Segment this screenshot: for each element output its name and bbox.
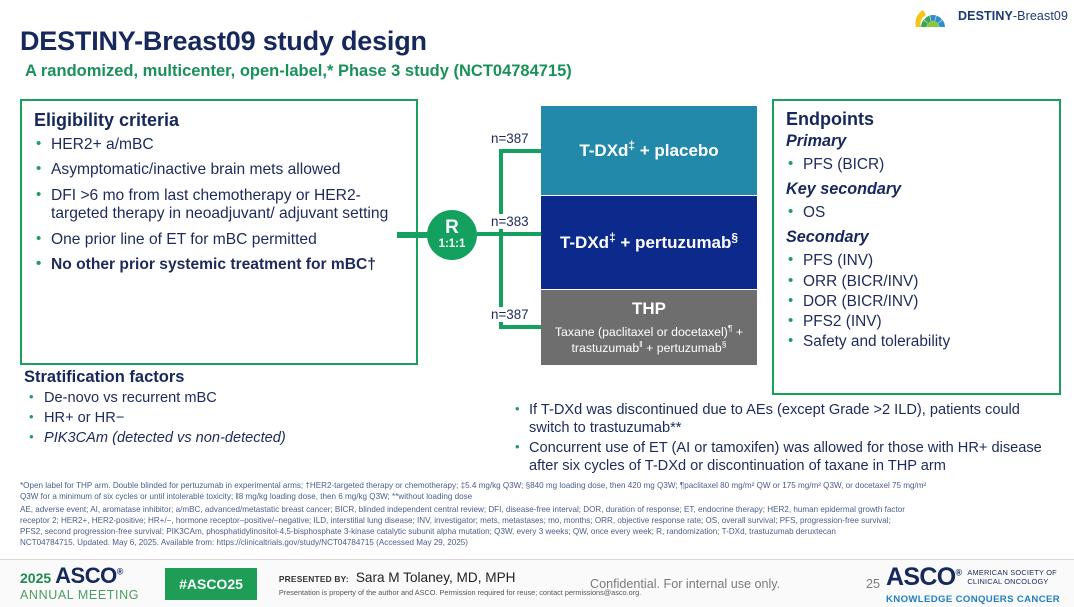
arm-1-n-label: n=387 [489, 131, 531, 146]
endpoints-panel: Endpoints Primary PFS (BICR) Key seconda… [772, 99, 1061, 395]
endpoints-secondary-list: PFS (INV) ORR (BICR/INV) DOR (BICR/INV) … [786, 252, 1051, 351]
endpoints-group-heading: Primary [786, 132, 1051, 151]
footnote-line: Q3W for a minimum of six cycles or until… [20, 492, 1064, 502]
list-item: Asymptomatic/inactive brain mets allowed [34, 161, 406, 179]
list-item: Safety and tolerability [786, 333, 1051, 351]
arm-title: T-DXd‡ + placebo [579, 141, 718, 161]
connector-arm-1 [499, 149, 541, 153]
asco-annual-meeting-logo: 2025 ASCO® ANNUAL MEETING [20, 565, 139, 602]
connector-arm-2 [499, 232, 541, 236]
list-item: No other prior systemic treatment for mB… [34, 256, 406, 274]
abbreviation-line: AE, adverse event; AI, aromatase inhibit… [20, 505, 1064, 515]
page-subtitle: A randomized, multicenter, open-label,* … [25, 62, 572, 81]
connector-arm-3 [499, 325, 541, 329]
study-notes-section: If T-DXd was discontinued due to AEs (ex… [512, 397, 1064, 478]
treatment-arm-thp: THP Taxane (paclitaxel or docetaxel)¶ +t… [541, 290, 757, 365]
arm-subtitle: Taxane (paclitaxel or docetaxel)¶ +trast… [555, 325, 743, 357]
endpoints-primary-list: PFS (BICR) [786, 156, 1051, 174]
stratification-list: De-novo vs recurrent mBC HR+ or HR− PIK3… [24, 390, 424, 448]
brand-name: DESTINY-Breast09 [958, 9, 1068, 23]
stratification-factors-section: Stratification factors De-novo vs recurr… [24, 368, 424, 451]
list-item: PFS (INV) [786, 252, 1051, 270]
citation-line: NCT04784715. Updated. May 6, 2025. Avail… [20, 538, 1064, 548]
randomization-inflow-arrow [397, 232, 430, 238]
list-item: HER2+ a/mBC [34, 136, 406, 154]
meeting-subtitle: ANNUAL MEETING [20, 589, 139, 602]
meeting-year: 2025 [20, 571, 51, 585]
presenter-name: Sara M Tolaney, MD, MPH [356, 570, 516, 585]
randomization-letter: R [445, 218, 459, 237]
endpoints-key-secondary-list: OS [786, 204, 1051, 222]
stratification-title: Stratification factors [24, 368, 424, 387]
eligibility-criteria-panel: Eligibility criteria HER2+ a/mBC Asympto… [20, 99, 418, 365]
hashtag-badge: #ASCO25 [165, 568, 257, 600]
treatment-arm-t-dxd-pertuzumab: T-DXd‡ + pertuzumab§ [541, 196, 757, 289]
abbreviation-line: receptor 2; HER2+, HER2-positive; HR+/−,… [20, 516, 1064, 526]
treatment-arm-t-dxd-placebo: T-DXd‡ + placebo [541, 106, 757, 195]
asco-tagline: KNOWLEDGE CONQUERS CANCER [886, 594, 1060, 605]
slide-footer: 2025 ASCO® ANNUAL MEETING #ASCO25 PRESEN… [0, 559, 1074, 607]
list-item: HR+ or HR− [24, 410, 424, 427]
arm-title: THP [632, 299, 666, 319]
list-item: ORR (BICR/INV) [786, 273, 1051, 291]
meeting-asco-wordmark: ASCO® [55, 565, 123, 587]
asco-wordmark: ASCO® [886, 563, 961, 592]
list-item: Concurrent use of ET (AI or tamoxifen) w… [512, 440, 1064, 475]
page-number: 25 [866, 577, 880, 591]
list-item: De-novo vs recurrent mBC [24, 390, 424, 407]
randomization-ratio: 1:1:1 [439, 237, 466, 252]
eligibility-list: HER2+ a/mBC Asymptomatic/inactive brain … [34, 136, 406, 274]
list-item: PFS (BICR) [786, 156, 1051, 174]
list-item: If T-DXd was discontinued due to AEs (ex… [512, 402, 1064, 437]
arm-2-n-label: n=383 [489, 214, 531, 229]
confidentiality-notice: Confidential. For internal use only. [590, 577, 780, 591]
connector-vertical [499, 149, 503, 329]
study-notes-list: If T-DXd was discontinued due to AEs (ex… [512, 402, 1064, 475]
list-item: PFS2 (INV) [786, 313, 1051, 331]
presented-by-label: PRESENTED BY: [279, 574, 349, 584]
presenter-block: PRESENTED BY: Sara M Tolaney, MD, MPH Pr… [279, 570, 641, 597]
list-item: PIK3CAm (detected vs non-detected) [24, 430, 424, 447]
randomization-node: R 1:1:1 [427, 210, 477, 260]
list-item: DFI >6 mo from last chemotherapy or HER2… [34, 187, 406, 224]
endpoints-group-heading: Key secondary [786, 180, 1051, 199]
abbreviation-line: PFS2, second progression-free survival; … [20, 527, 1064, 537]
destiny-breast09-logo: DESTINY-Breast09 [913, 3, 1068, 29]
endpoints-title: Endpoints [786, 109, 1051, 130]
page-title: DESTINY-Breast09 study design [20, 26, 427, 57]
footnotes-section: *Open label for THP arm. Double blinded … [20, 481, 1064, 549]
eligibility-title: Eligibility criteria [34, 110, 406, 131]
arm-title: T-DXd‡ + pertuzumab§ [560, 233, 738, 253]
list-item: DOR (BICR/INV) [786, 293, 1051, 311]
footnote-line: *Open label for THP arm. Double blinded … [20, 481, 1064, 491]
asco-society-name: AMERICAN SOCIETY OFCLINICAL ONCOLOGY [967, 568, 1057, 587]
endpoints-group-heading: Secondary [786, 228, 1051, 247]
list-item: OS [786, 204, 1051, 222]
list-item: One prior line of ET for mBC permitted [34, 231, 406, 249]
destiny-breast09-fan-logo-icon [913, 3, 953, 29]
permission-note: Presentation is property of the author a… [279, 588, 641, 597]
asco-logo: ASCO® AMERICAN SOCIETY OFCLINICAL ONCOLO… [886, 563, 1060, 605]
slide-canvas: DESTINY-Breast09 DESTINY-Breast09 study … [0, 0, 1074, 607]
arm-3-n-label: n=387 [489, 307, 531, 322]
